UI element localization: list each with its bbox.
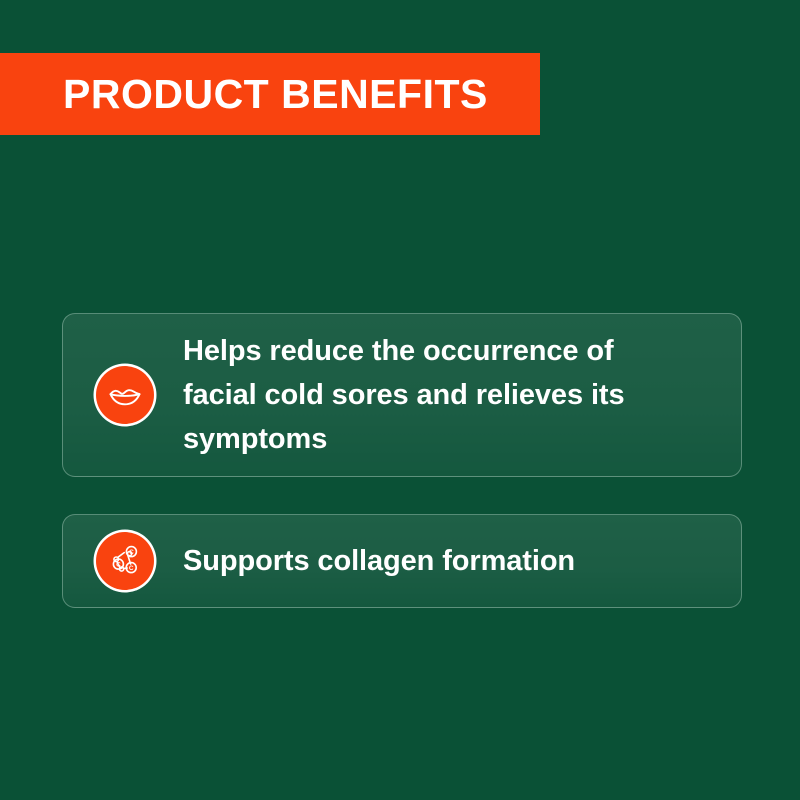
benefit-text: Supports collagen formation: [183, 541, 575, 581]
page-title: PRODUCT BENEFITS: [0, 74, 488, 115]
benefit-text: Helps reduce the occurrence of facial co…: [183, 329, 683, 461]
benefit-card: C C C Supports collagen formation: [62, 514, 742, 608]
lips-icon: [96, 366, 154, 424]
svg-text:C: C: [116, 561, 121, 568]
product-benefits-poster: PRODUCT BENEFITS Helps reduce the occurr…: [0, 0, 800, 800]
svg-text:C: C: [129, 549, 134, 556]
header-banner: PRODUCT BENEFITS: [0, 53, 540, 135]
benefits-list: Helps reduce the occurrence of facial co…: [62, 313, 742, 608]
collagen-molecule-icon: C C C: [96, 532, 154, 590]
benefit-card: Helps reduce the occurrence of facial co…: [62, 313, 742, 477]
svg-text:C: C: [129, 565, 134, 572]
